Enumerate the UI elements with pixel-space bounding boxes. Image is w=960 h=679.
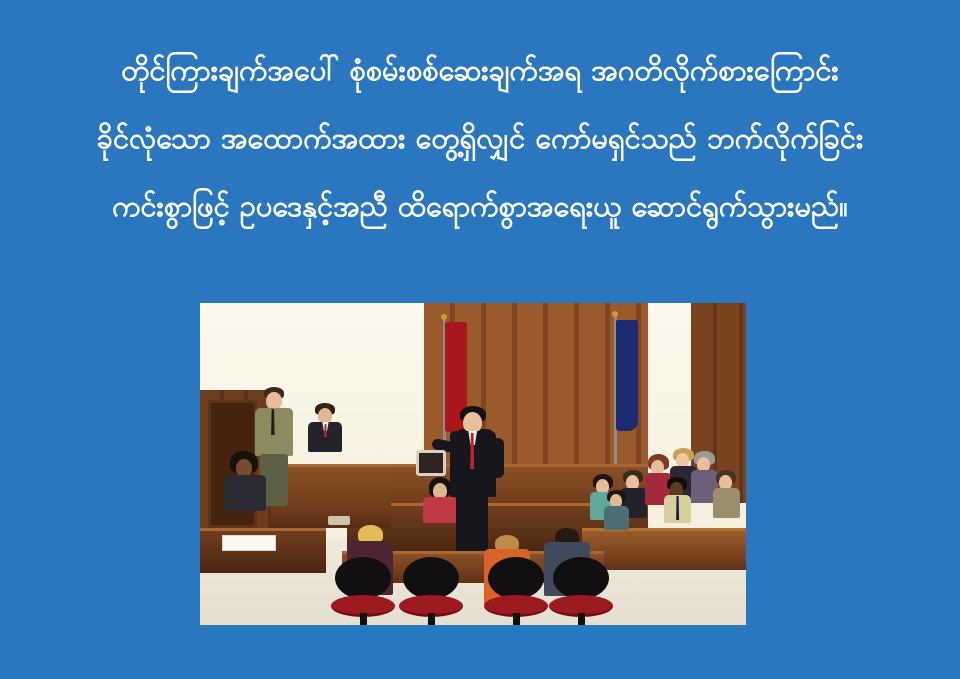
headline-line-3: ကင်းစွာဖြင့် ဥပဒေနှင့်အညီ ထိရောက်စွာအရေး… (14, 172, 946, 240)
chair-4 (549, 557, 613, 625)
chair-2-post (428, 613, 435, 625)
photo-stage (200, 303, 746, 625)
reporter-papers (222, 535, 277, 551)
briefcase (416, 450, 446, 476)
chair-3 (484, 557, 548, 625)
jury-member-7-top (713, 488, 740, 518)
headline-line-2: ခိုင်လုံသော အထောက်အထား တွေ့ရှိလျှင် ကော်… (14, 104, 946, 172)
court-reporter-top (224, 475, 266, 511)
chair-3-back (488, 557, 544, 599)
flagpole-finial-left (441, 314, 447, 320)
flagpole-finial-right (612, 311, 618, 317)
chair-1-back (335, 557, 391, 599)
chair-4-back (553, 557, 609, 599)
chair-1-post (360, 613, 367, 625)
attorney-head (463, 412, 482, 433)
chair-3-post (513, 613, 520, 625)
courtroom-photo (200, 303, 746, 625)
witness (306, 403, 344, 471)
gavel-block (328, 516, 350, 525)
jury-member-8 (604, 490, 630, 545)
chair-1 (331, 557, 395, 625)
jury-member-8-top (604, 506, 629, 530)
attorney-arm-right (490, 438, 504, 478)
chair-2-back (403, 557, 459, 599)
slide-root: တိုင်ကြားချက်အပေါ် စုံစမ်းစစ်ဆေးချက်အရ အ… (0, 0, 960, 679)
jury-member-7 (713, 470, 741, 538)
flag-blue (607, 316, 637, 471)
headline-block: တိုင်ကြားချက်အပေါ် စုံစမ်းစစ်ဆေးချက်အရ အ… (0, 36, 960, 240)
chair-2 (399, 557, 463, 625)
headline-line-1: တိုင်ကြားချက်အပေါ် စုံစမ်းစစ်ဆေးချက်အရ အ… (14, 36, 946, 104)
flag-cloth-blue (616, 320, 638, 431)
jury-member-6 (664, 477, 692, 541)
chair-4-post (578, 613, 585, 625)
